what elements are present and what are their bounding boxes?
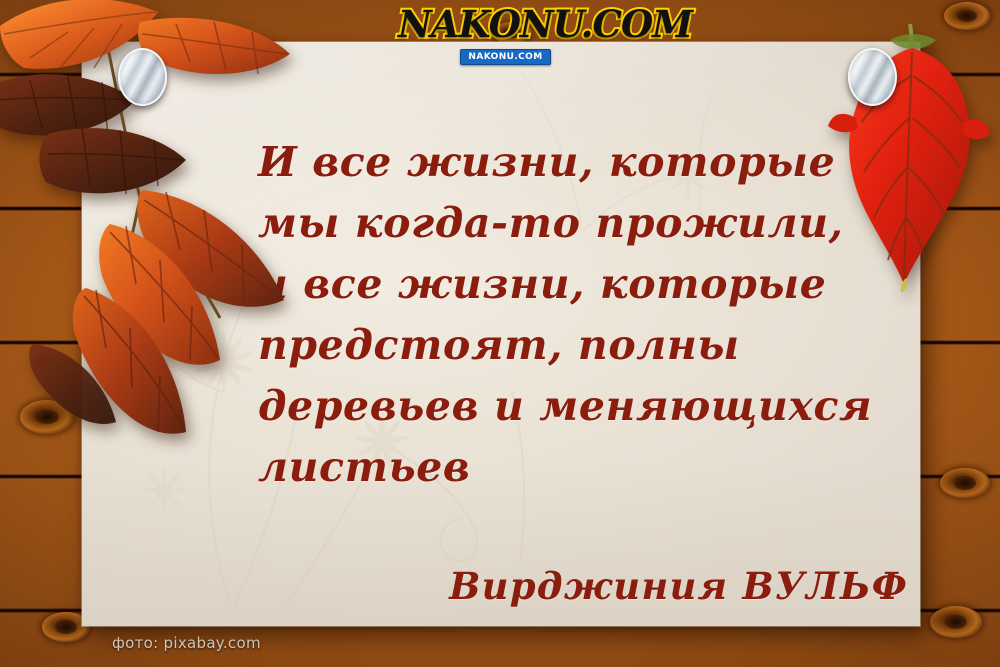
screw-pin-top-right xyxy=(848,48,897,106)
quote-line: И все жизни, которые xyxy=(258,132,878,193)
photo-credit: фото: pixabay.com xyxy=(112,634,261,652)
autumn-leaf-right xyxy=(812,22,992,292)
screw-pin-top-left xyxy=(118,48,167,106)
quote-line: предстоят, полны xyxy=(258,315,878,376)
quote-line: деревьев и меняющихся xyxy=(258,376,878,437)
quote-line: листьев xyxy=(258,437,878,498)
wood-knot xyxy=(930,606,982,638)
quote-author: Вирджиния ВУЛЬФ xyxy=(449,564,908,608)
logo-badge: NAKONU.COM xyxy=(460,49,550,65)
quote-line: мы когда-то прожили, xyxy=(258,193,878,254)
site-logo[interactable]: NAKONU.COM NAKONU.COM xyxy=(398,2,613,64)
wood-knot xyxy=(940,468,990,498)
poster-canvas: И все жизни, которые мы когда-то прожили… xyxy=(0,0,1000,667)
quote-text: И все жизни, которые мы когда-то прожили… xyxy=(258,132,878,498)
logo-wordmark: NAKONU.COM xyxy=(398,2,613,46)
quote-line: и все жизни, которые xyxy=(258,254,878,315)
